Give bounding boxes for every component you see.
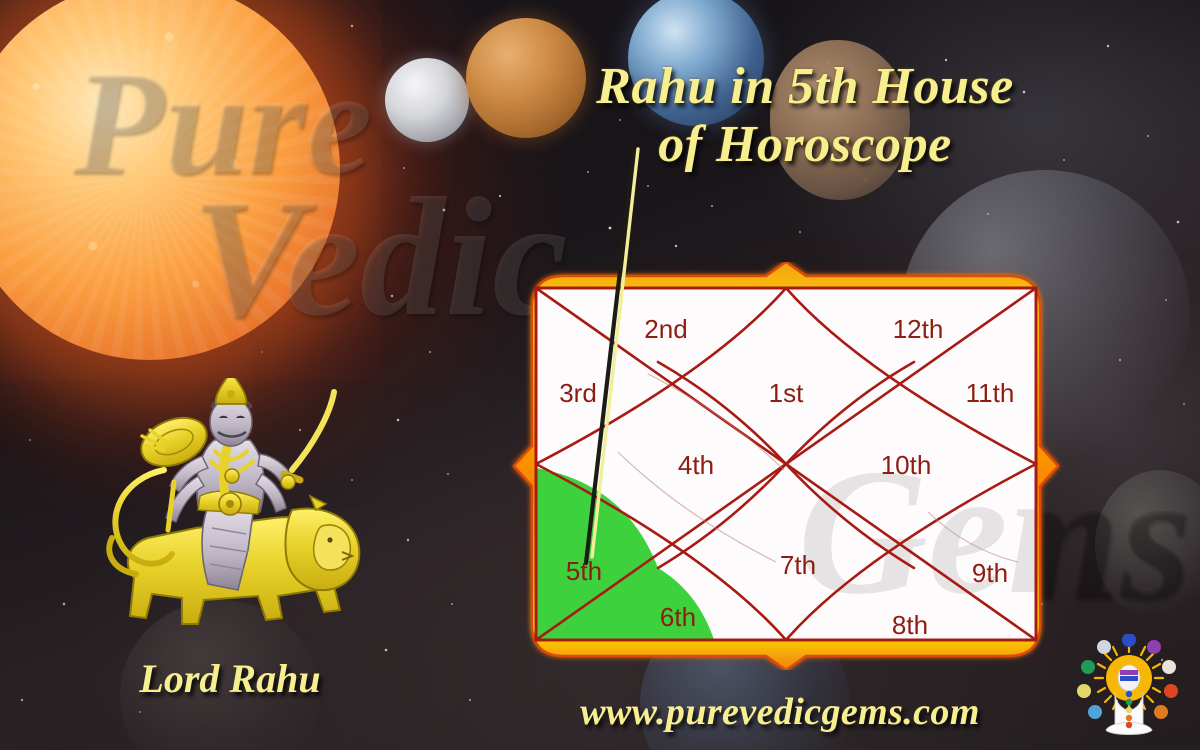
house-label-3rd: 3rd (559, 378, 597, 408)
house-label-7th: 7th (780, 550, 816, 580)
house-label-5th: 5th (566, 556, 602, 586)
house-label-9th: 9th (972, 558, 1008, 588)
house-label-8th: 8th (892, 610, 928, 640)
house-label-12th: 12th (893, 314, 944, 344)
planet-sun (0, 0, 340, 360)
house-label-2nd: 2nd (644, 314, 687, 344)
deity-rahu-illustration (78, 378, 378, 658)
house-label-6th: 6th (660, 602, 696, 632)
title-line-1: Rahu in 5th House (505, 58, 1105, 116)
house-label-1st: 1st (769, 378, 804, 408)
deity-label: Lord Rahu (60, 655, 400, 702)
planet-background-right (1095, 470, 1200, 620)
kundli-chart[interactable]: Gems (498, 262, 1074, 670)
house-label-4th: 4th (678, 450, 714, 480)
site-url[interactable]: www.purevedicgems.com (470, 690, 1090, 734)
title-line-2: of Horoscope (505, 116, 1105, 174)
house-label-11th: 11th (966, 378, 1015, 408)
planet-moon (385, 58, 469, 142)
poster-canvas: Pure Vedic Gems Rahu in 5th House of Hor… (0, 0, 1200, 750)
house-label-10th: 10th (881, 450, 932, 480)
page-title: Rahu in 5th House of Horoscope (505, 58, 1105, 174)
